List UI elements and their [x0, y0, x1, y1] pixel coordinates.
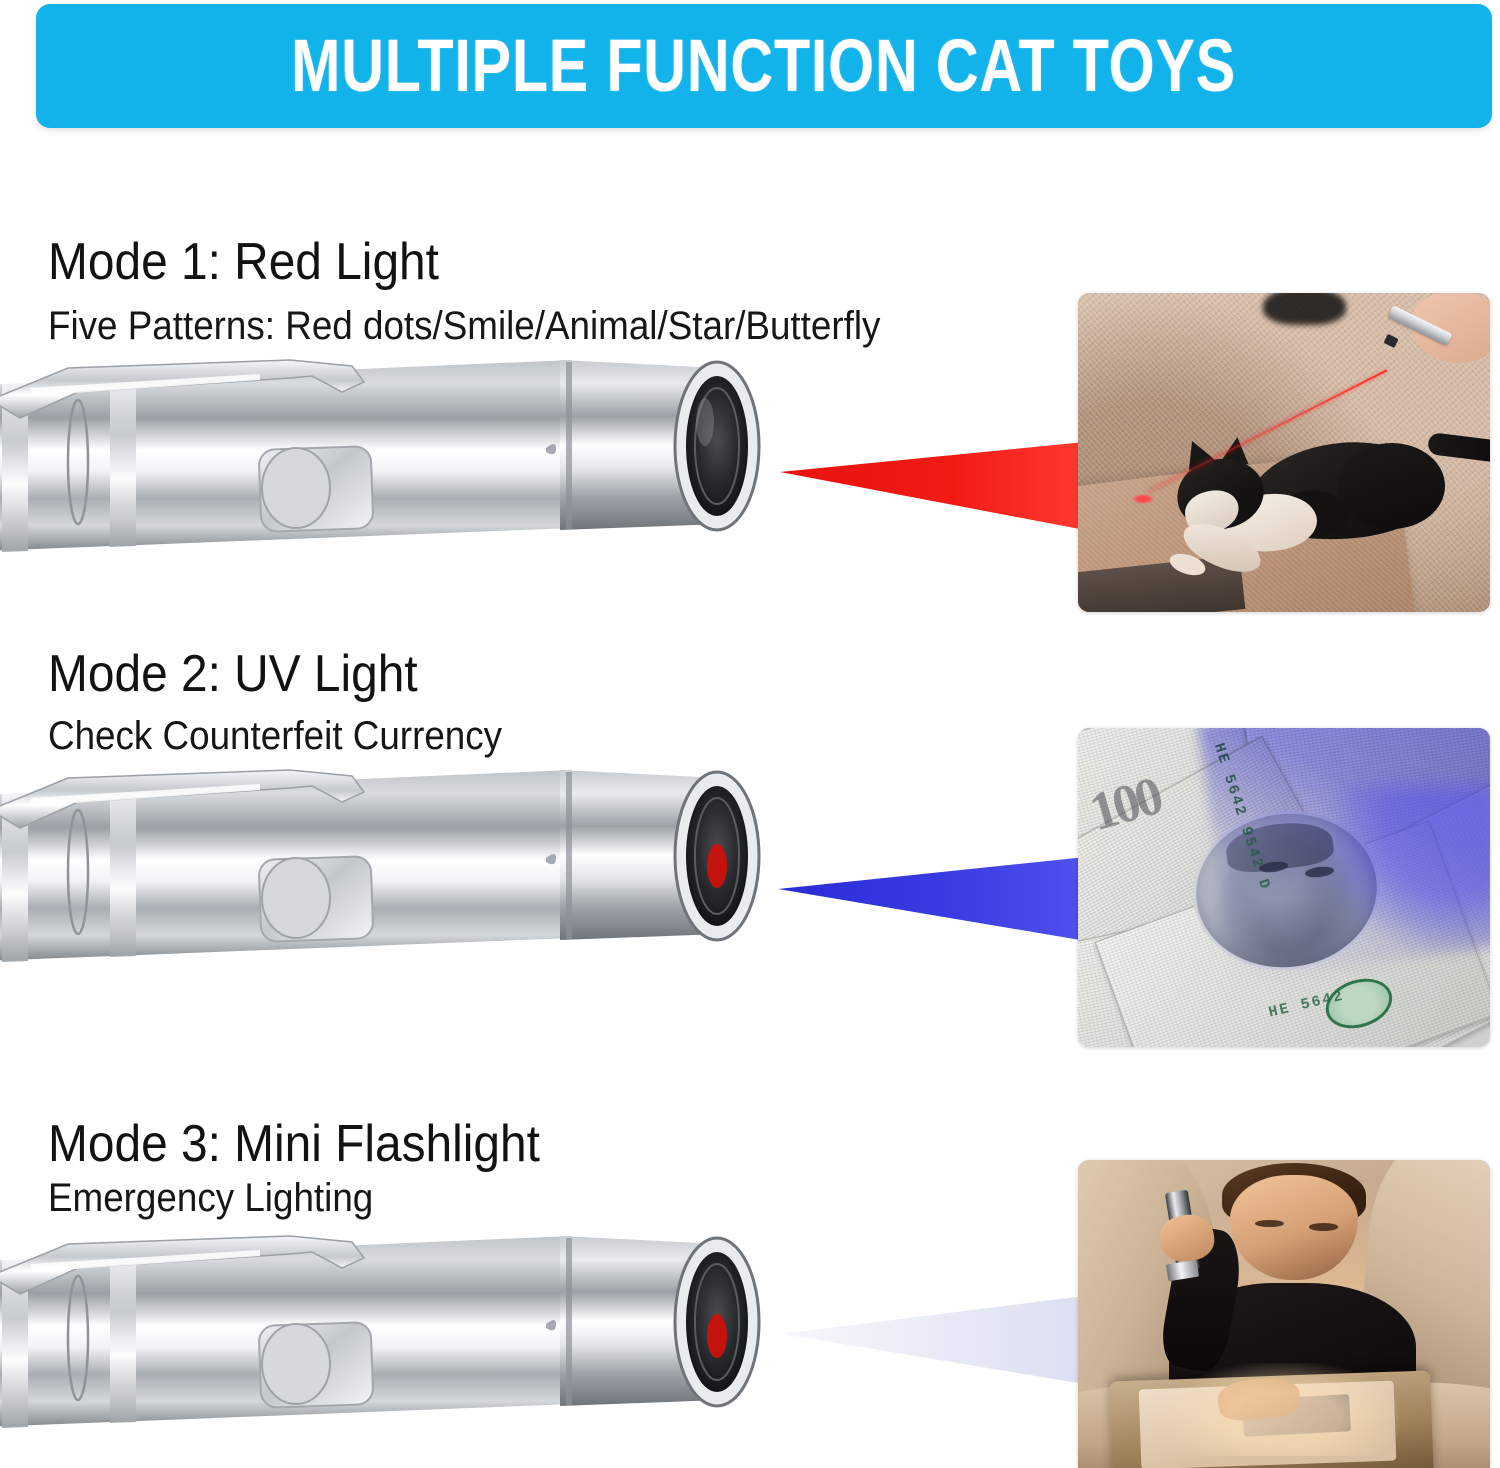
- boy-reading-photo: [1078, 1160, 1490, 1468]
- white-flashlight-beam: [782, 1288, 1084, 1423]
- flashlight-svg: [0, 352, 800, 567]
- flashlight-head: [546, 360, 759, 530]
- warm-light-glow: [1169, 1363, 1400, 1455]
- flashlight-svg: [0, 1228, 800, 1443]
- flashlight-side-button: [259, 856, 374, 942]
- uv-light-glow: [1333, 785, 1490, 945]
- flashlight-svg: [0, 762, 800, 977]
- mode-1-heading: Mode 1: Red Light: [48, 236, 439, 288]
- mode-2-heading: Mode 2: UV Light: [48, 648, 418, 700]
- mode-1-subheading: Five Patterns: Red dots/Smile/Animal/Sta…: [48, 306, 880, 346]
- flashlight-illustration-2: [0, 762, 800, 977]
- flashlight-head: [546, 770, 759, 940]
- led-emitter: [707, 844, 727, 888]
- mode-3-subheading: Emergency Lighting: [48, 1178, 373, 1218]
- flashlight-head: [546, 1236, 759, 1406]
- boy-eye-right: [1309, 1223, 1338, 1230]
- led-emitter: [707, 1314, 727, 1358]
- currency-uv-photo: 100 HE 5642 9542 D HE 5642: [1078, 728, 1490, 1047]
- mode-3-heading: Mode 3: Mini Flashlight: [48, 1118, 540, 1170]
- flashlight-side-button: [259, 1322, 374, 1408]
- laser-dot: [1132, 494, 1154, 504]
- background-blur: [1263, 293, 1345, 325]
- page-title: MULTIPLE FUNCTION CAT TOYS: [292, 29, 1237, 103]
- flashlight-illustration-1: [0, 352, 800, 567]
- uv-blue-beam: [778, 833, 1086, 953]
- flashlight-side-button: [259, 446, 374, 532]
- header-banner: MULTIPLE FUNCTION CAT TOYS: [36, 4, 1492, 128]
- flashlight-illustration-3: [0, 1228, 800, 1443]
- cat-rump: [1338, 443, 1445, 529]
- red-laser-beam: [780, 400, 1085, 545]
- infographic-page: MULTIPLE FUNCTION CAT TOYS Mode 1: Red L…: [0, 0, 1500, 1468]
- mode-2-subheading: Check Counterfeit Currency: [48, 716, 502, 756]
- cat-laser-photo: [1078, 293, 1490, 612]
